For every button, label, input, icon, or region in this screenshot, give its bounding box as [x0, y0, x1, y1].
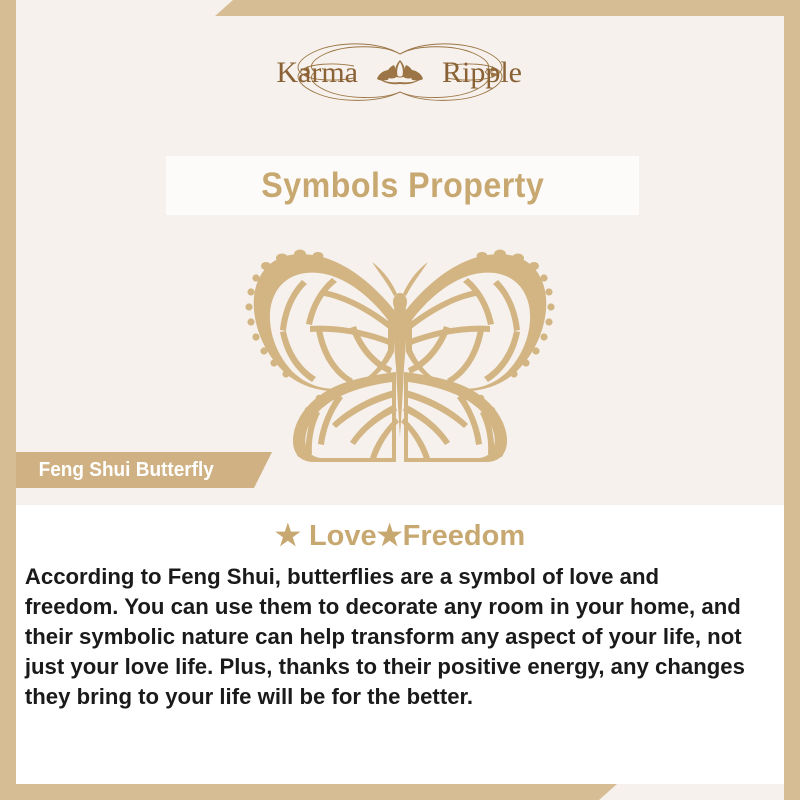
frame-band-left [0, 0, 16, 800]
brand-word-right: Ripple [442, 56, 522, 89]
hero-image [16, 232, 784, 462]
karma-ripple-logo-icon: Karma Ripple [250, 42, 550, 104]
page-title-banner: Symbols Property [167, 157, 638, 214]
section-subheading: ★ Love★Freedom [16, 505, 784, 553]
page-root: Karma Ripple Symbols Property [0, 0, 800, 800]
butterfly-icon [220, 232, 580, 462]
lotus-icon [377, 60, 423, 84]
brand-logo: Karma Ripple [16, 42, 784, 104]
frame-band-bottom [0, 784, 617, 800]
hero-label-ribbon: Feng Shui Butterfly [16, 452, 272, 488]
description-paragraph: According to Feng Shui, butterflies are … [16, 553, 772, 712]
description-panel: ★ Love★Freedom According to Feng Shui, b… [16, 505, 784, 784]
frame-band-right [784, 0, 800, 800]
page-title: Symbols Property [261, 166, 544, 206]
brand-word-left: Karma [276, 56, 358, 89]
hero-label: Feng Shui Butterfly [39, 459, 214, 482]
content-card: Karma Ripple Symbols Property [16, 16, 784, 784]
frame-band-top [215, 0, 800, 16]
